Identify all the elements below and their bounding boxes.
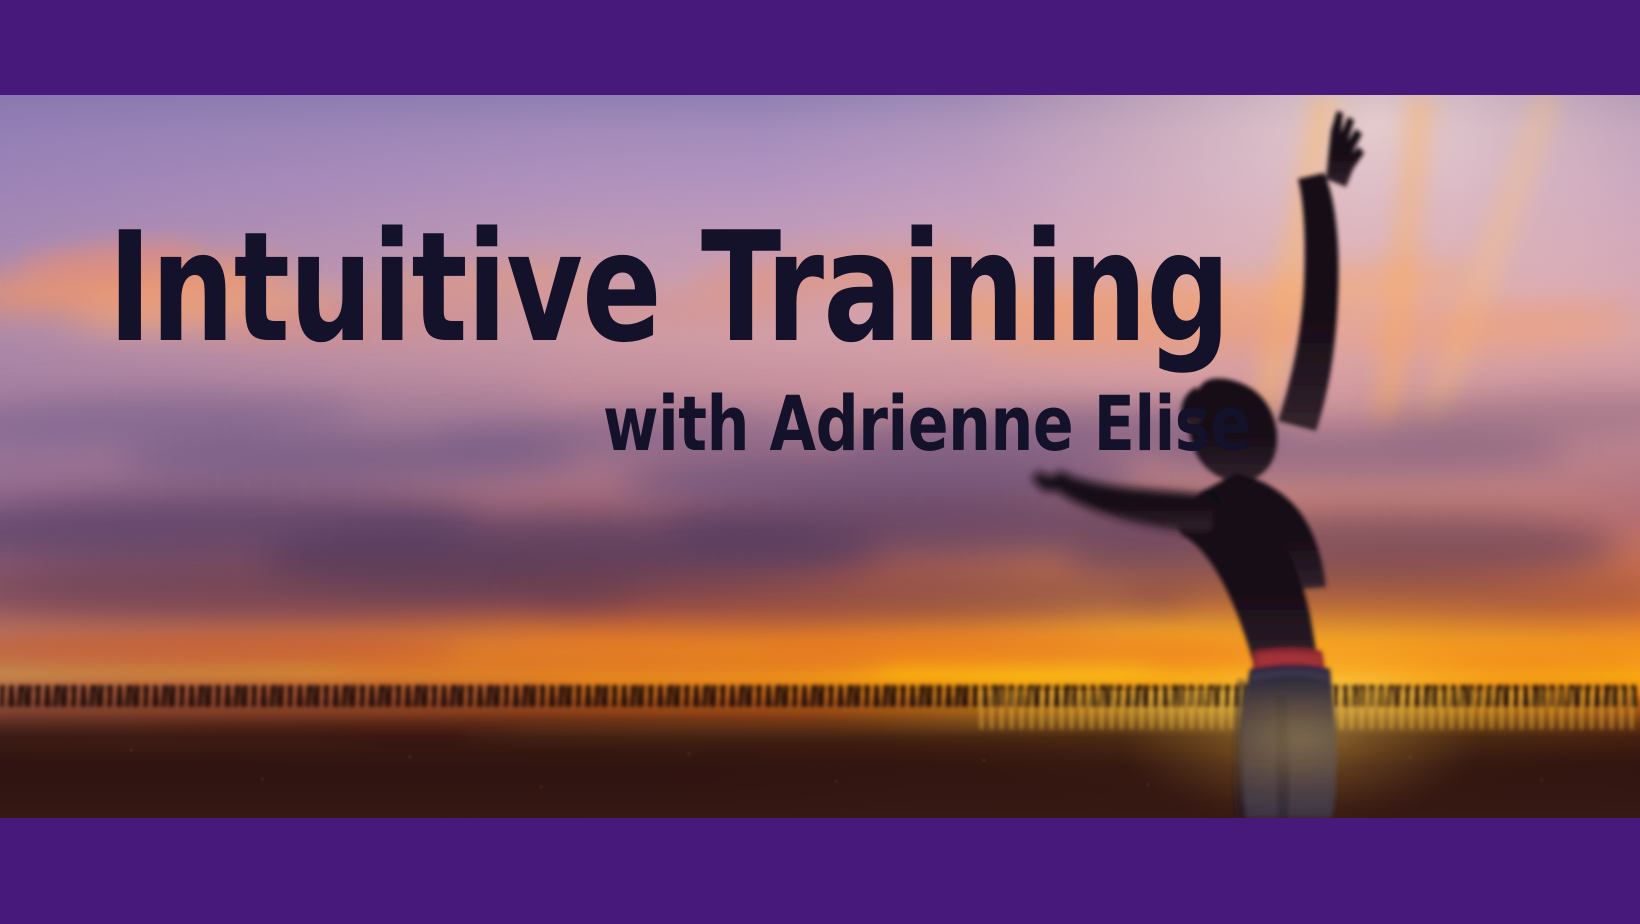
page-title: Intuitive Training	[108, 212, 1230, 364]
page-subtitle: with Adrienne Elise	[603, 386, 1251, 462]
sunset-field-silhouette-photo: Intuitive Training with Adrienne Elise	[0, 95, 1640, 818]
intuitive-training-banner: Intuitive Training with Adrienne Elise	[0, 0, 1640, 924]
top-purple-band	[0, 0, 1640, 95]
bottom-purple-band	[0, 818, 1640, 924]
